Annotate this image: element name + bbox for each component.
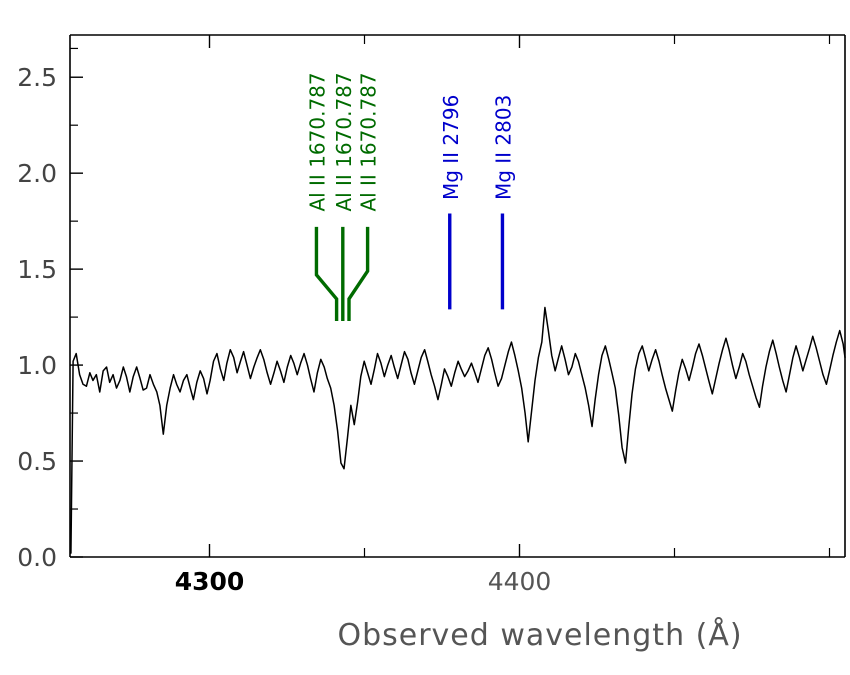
x-tick-label: 4300	[175, 567, 245, 596]
x-axis-title: Observed wavelength (Å)	[337, 617, 742, 653]
marker-label-mg-ii-2803: Mg II 2803	[491, 95, 515, 200]
marker-label-al-ii-a: Al II 1670.787	[305, 72, 329, 211]
x-tick-label: 4400	[488, 567, 552, 596]
y-tick-label: 2.5	[17, 63, 57, 92]
marker-label-al-ii-c: Al II 1670.787	[357, 72, 381, 211]
marker-label-mg-ii-2796: Mg II 2796	[439, 95, 463, 200]
spectrum-plot: 0.00.51.01.52.02.5 43004400 Al II 1670.7…	[0, 0, 850, 675]
figure-background	[0, 0, 850, 675]
y-tick-label: 1.0	[17, 351, 57, 380]
y-tick-label: 0.5	[17, 447, 57, 476]
y-tick-label: 2.0	[17, 159, 57, 188]
y-tick-label: 1.5	[17, 255, 57, 284]
marker-label-al-ii-b: Al II 1670.787	[332, 72, 356, 211]
spectrum-figure: 0.00.51.01.52.02.5 43004400 Al II 1670.7…	[0, 0, 850, 675]
y-tick-label: 0.0	[17, 543, 57, 572]
